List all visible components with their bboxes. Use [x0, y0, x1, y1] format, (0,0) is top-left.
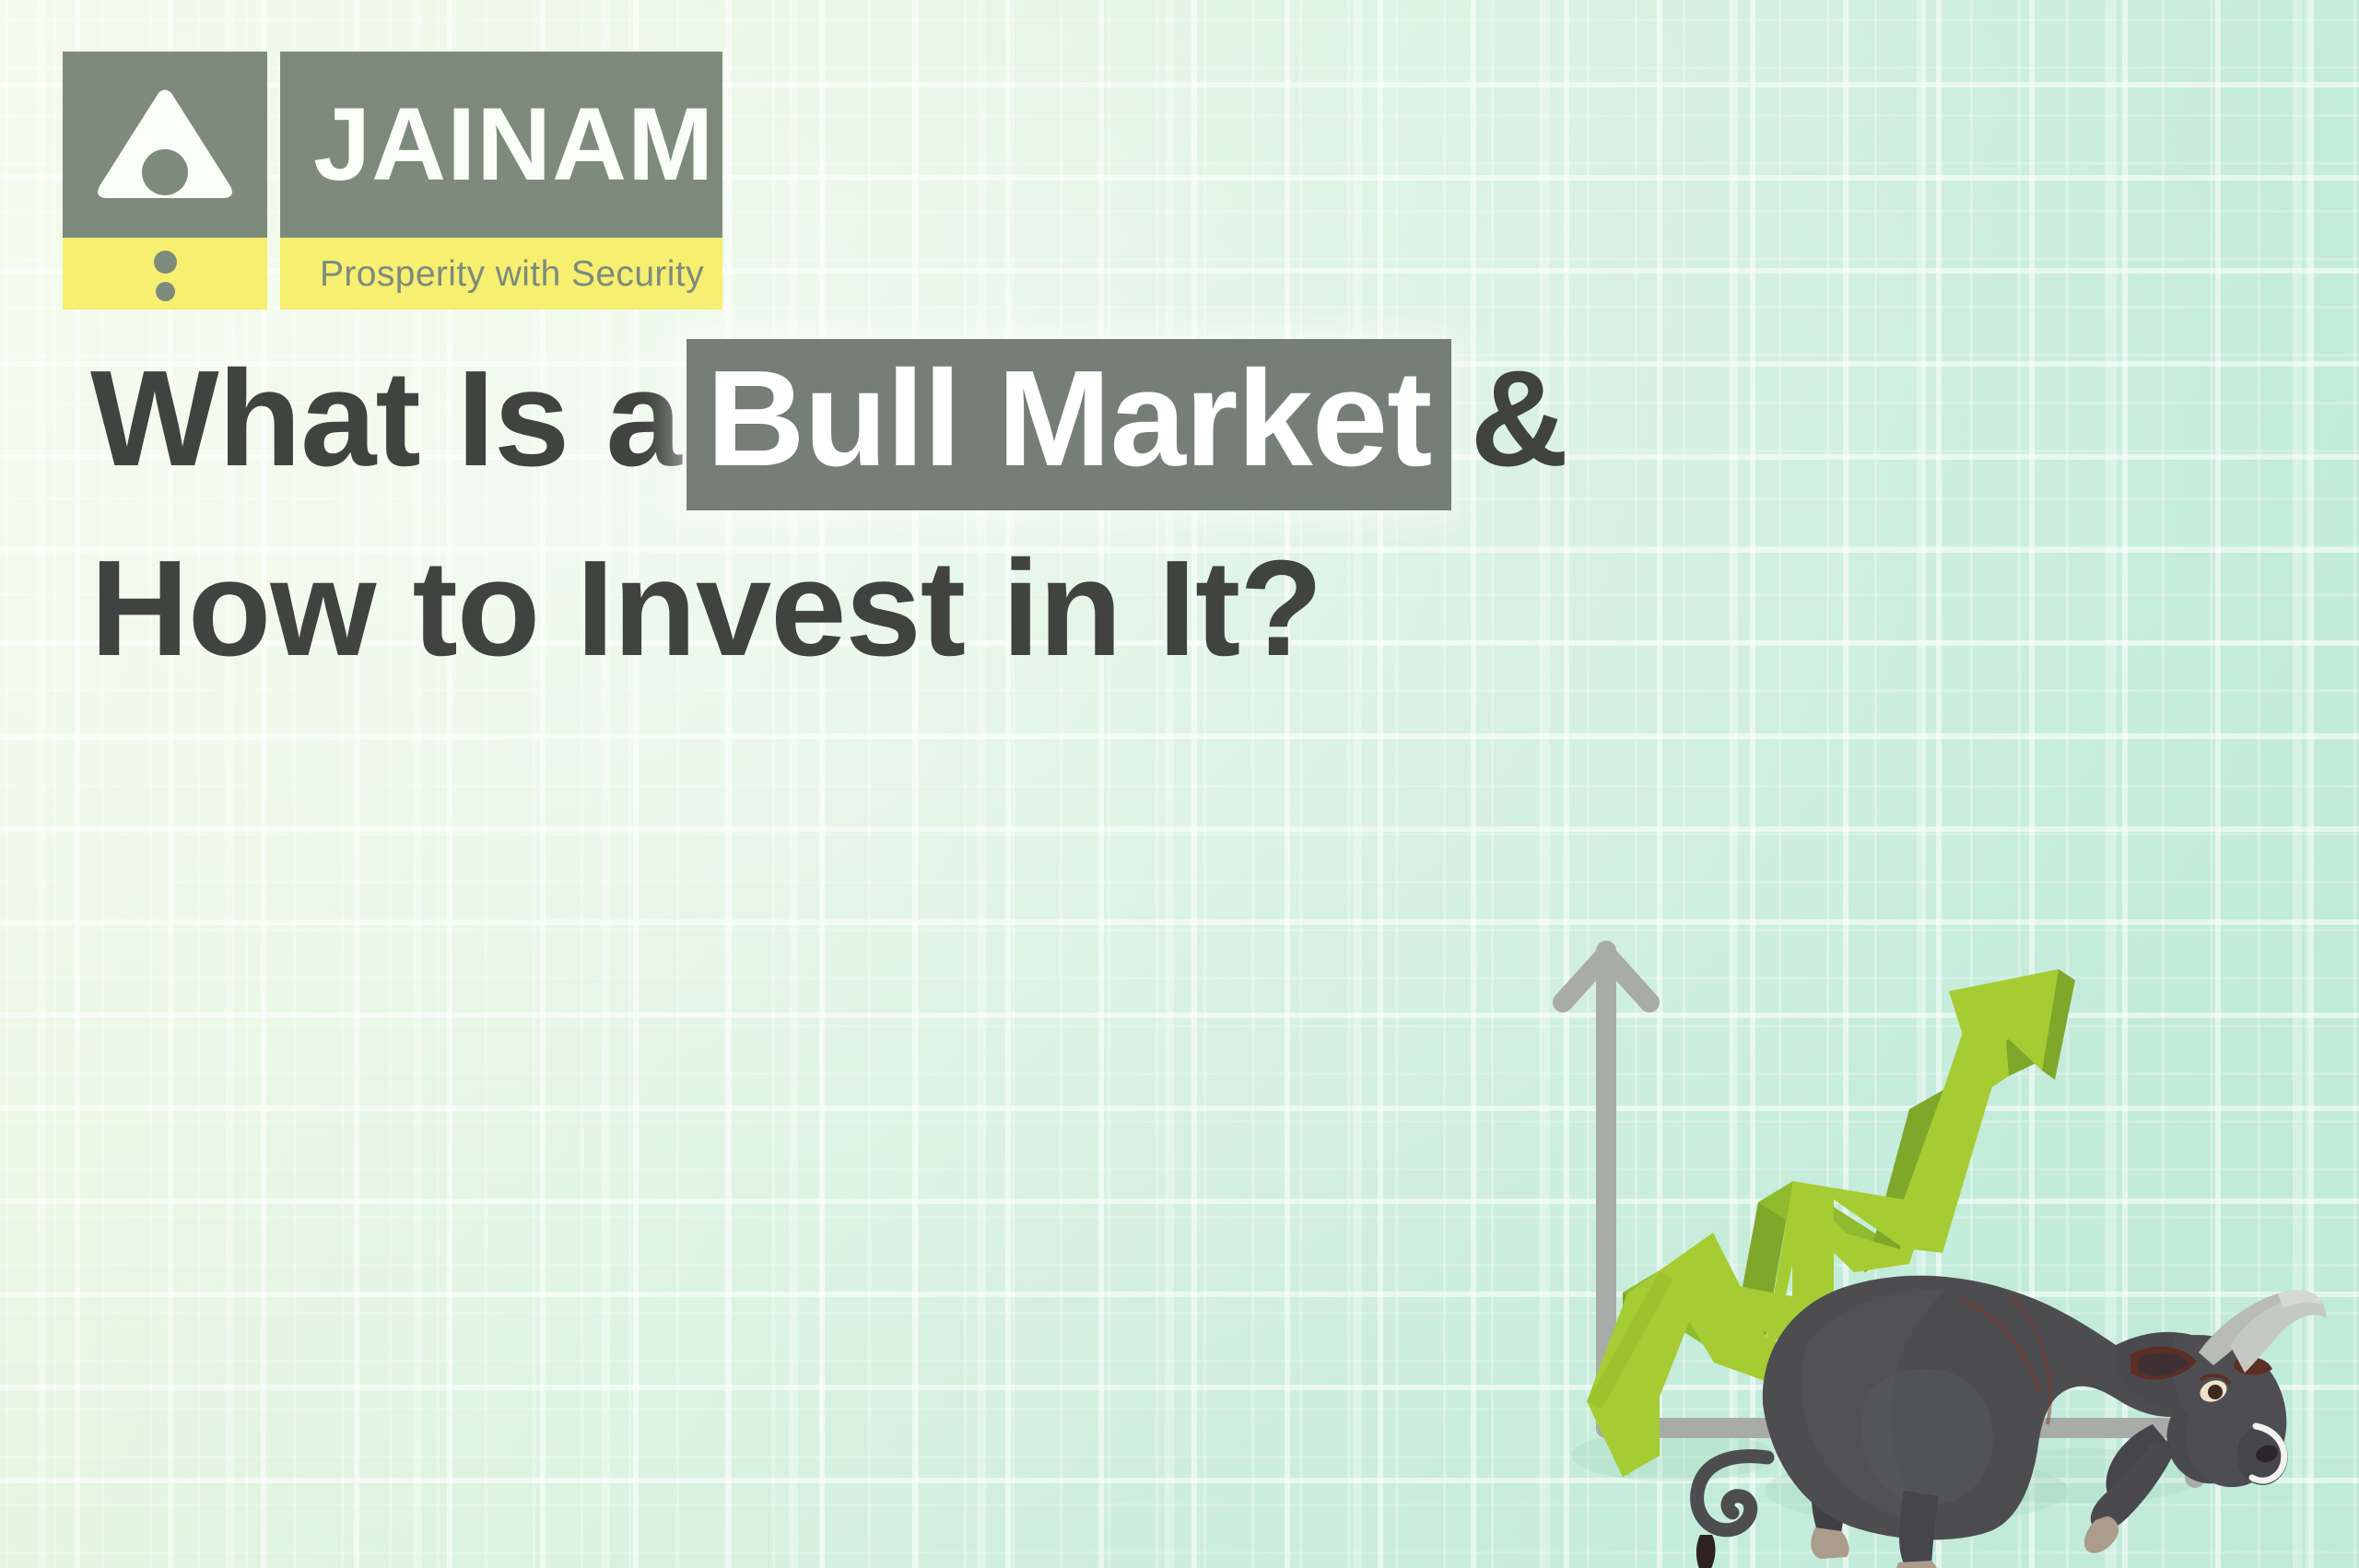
headline-line-1: What Is a Bull Market &	[90, 339, 1933, 510]
logo-top-row: JAINAM	[63, 52, 722, 238]
logo-divider-top	[267, 52, 280, 238]
logo-dot-upper	[154, 251, 177, 274]
headline-line2-text: How to Invest in It?	[90, 536, 1322, 682]
headline-line1-before: What Is a	[90, 346, 681, 492]
logo-dot-lower	[156, 282, 175, 301]
logo-dots-plate	[63, 238, 267, 310]
banner-canvas: JAINAM Prosperity with Security What Is …	[0, 0, 2359, 1568]
headline-line-2: How to Invest in It?	[90, 536, 1933, 682]
brand-logo[interactable]: JAINAM Prosperity with Security	[63, 52, 722, 310]
triangle-exclamation-icon	[95, 85, 235, 205]
brand-tagline: Prosperity with Security	[320, 256, 704, 292]
brand-name: JAINAM	[313, 93, 714, 196]
headline-block: What Is a Bull Market & How to Invest in…	[90, 339, 1933, 683]
bull-market-growth-illustration	[1530, 912, 2359, 1568]
logo-divider-bottom	[267, 238, 280, 310]
logo-wordmark-plate: JAINAM	[280, 52, 722, 238]
headline-highlight: Bull Market	[687, 339, 1452, 510]
logo-mark-plate	[63, 52, 267, 238]
logo-bottom-row: Prosperity with Security	[63, 238, 722, 310]
headline-ampersand: &	[1470, 346, 1567, 492]
logo-tagline-plate: Prosperity with Security	[280, 238, 722, 310]
